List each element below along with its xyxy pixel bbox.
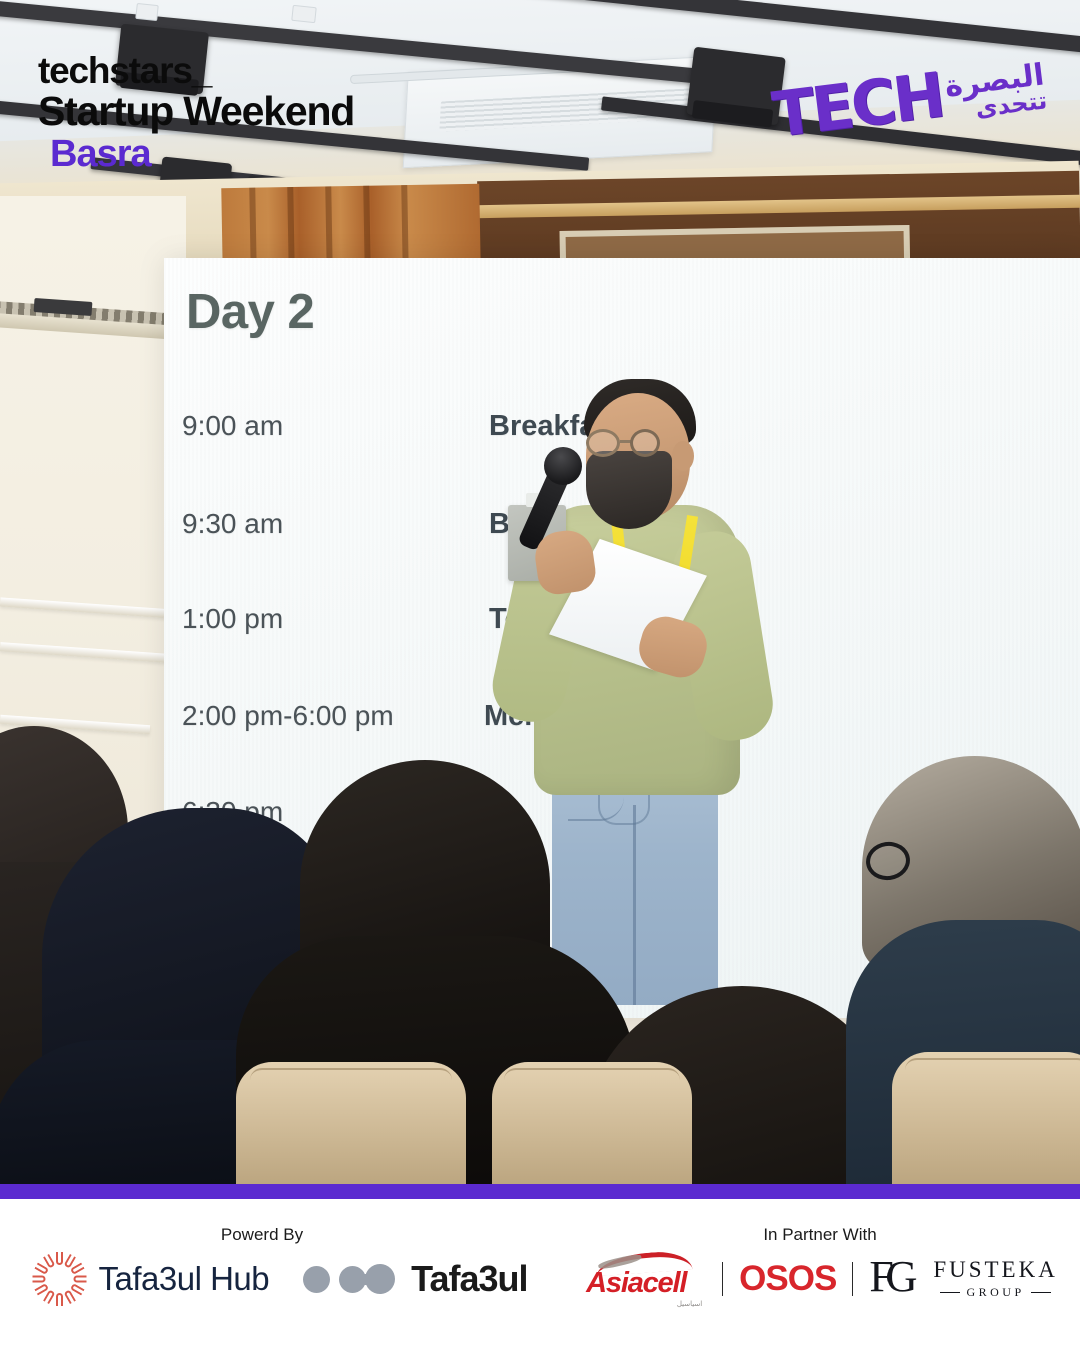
brand-line-city: Basra (38, 135, 354, 173)
powered-by-caption: Powerd By (112, 1225, 412, 1245)
event-photo-card: Day 2 9:00 am Breakfast 9:30 am Bootcamp… (0, 0, 1080, 1350)
partners-section: In Partner With Asiacell اسياسيل OSOS FG… (560, 1199, 1080, 1350)
fusteka-group-logo[interactable]: FG FUSTEKA GROUP (869, 1255, 1058, 1303)
powered-by-section: Powerd By Tafa3ul Hub Tafa3ul (0, 1199, 560, 1350)
chair-back (892, 1052, 1080, 1184)
schedule-time: 9:00 am (182, 410, 283, 442)
brand-line-startup-weekend: Startup Weekend (38, 91, 354, 132)
eyeglasses-icon (586, 429, 674, 457)
techstars-brand-lockup: techstars_ Startup Weekend Basra (38, 52, 354, 173)
fusteka-monogram-icon: FG (869, 1255, 923, 1303)
three-dots-icon (303, 1262, 399, 1296)
partners-caption: In Partner With (560, 1225, 1080, 1245)
chair-back (492, 1062, 692, 1184)
fusteka-subtitle: GROUP (940, 1285, 1050, 1300)
event-photograph: Day 2 9:00 am Breakfast 9:30 am Bootcamp… (0, 0, 1080, 1184)
tafa3ul-hub-logo[interactable]: Tafa3ul Hub (33, 1252, 270, 1306)
schedule-time: 1:00 pm (182, 603, 283, 635)
speaker-ear (672, 441, 694, 471)
arabic-line-2: تتحدى (974, 88, 1048, 121)
brand-line-techstars: techstars_ (38, 52, 354, 89)
fusteka-name: FUSTEKA (933, 1257, 1058, 1283)
osos-logo[interactable]: OSOS (739, 1259, 836, 1299)
schedule-time: 9:30 am (182, 508, 283, 540)
asiacell-arabic-sub: اسياسيل (677, 1300, 702, 1308)
logo-separator (852, 1262, 853, 1296)
schedule-time: 2:00 pm-6:00 pm (182, 700, 394, 732)
arabic-wordmark: البصرة تتحدى (943, 60, 1048, 124)
ceiling-fixture-box (135, 3, 159, 21)
ceiling-fixture-box (291, 5, 317, 23)
purple-divider-bar (0, 1184, 1080, 1199)
jeans-pocket (598, 791, 650, 825)
sunburst-icon (33, 1252, 87, 1306)
tafa3ul-hub-name: Tafa3ul Hub (99, 1260, 270, 1298)
asiacell-logo[interactable]: Asiacell اسياسيل (582, 1251, 706, 1307)
tafa3ul-name: Tafa3ul (411, 1258, 527, 1300)
sponsor-footer: Powerd By Tafa3ul Hub Tafa3ul (0, 1199, 1080, 1350)
tafa3ul-logo[interactable]: Tafa3ul (303, 1258, 527, 1300)
chair-back (236, 1062, 466, 1184)
asiacell-name: Asiacell (586, 1267, 686, 1300)
logo-separator (722, 1262, 723, 1296)
